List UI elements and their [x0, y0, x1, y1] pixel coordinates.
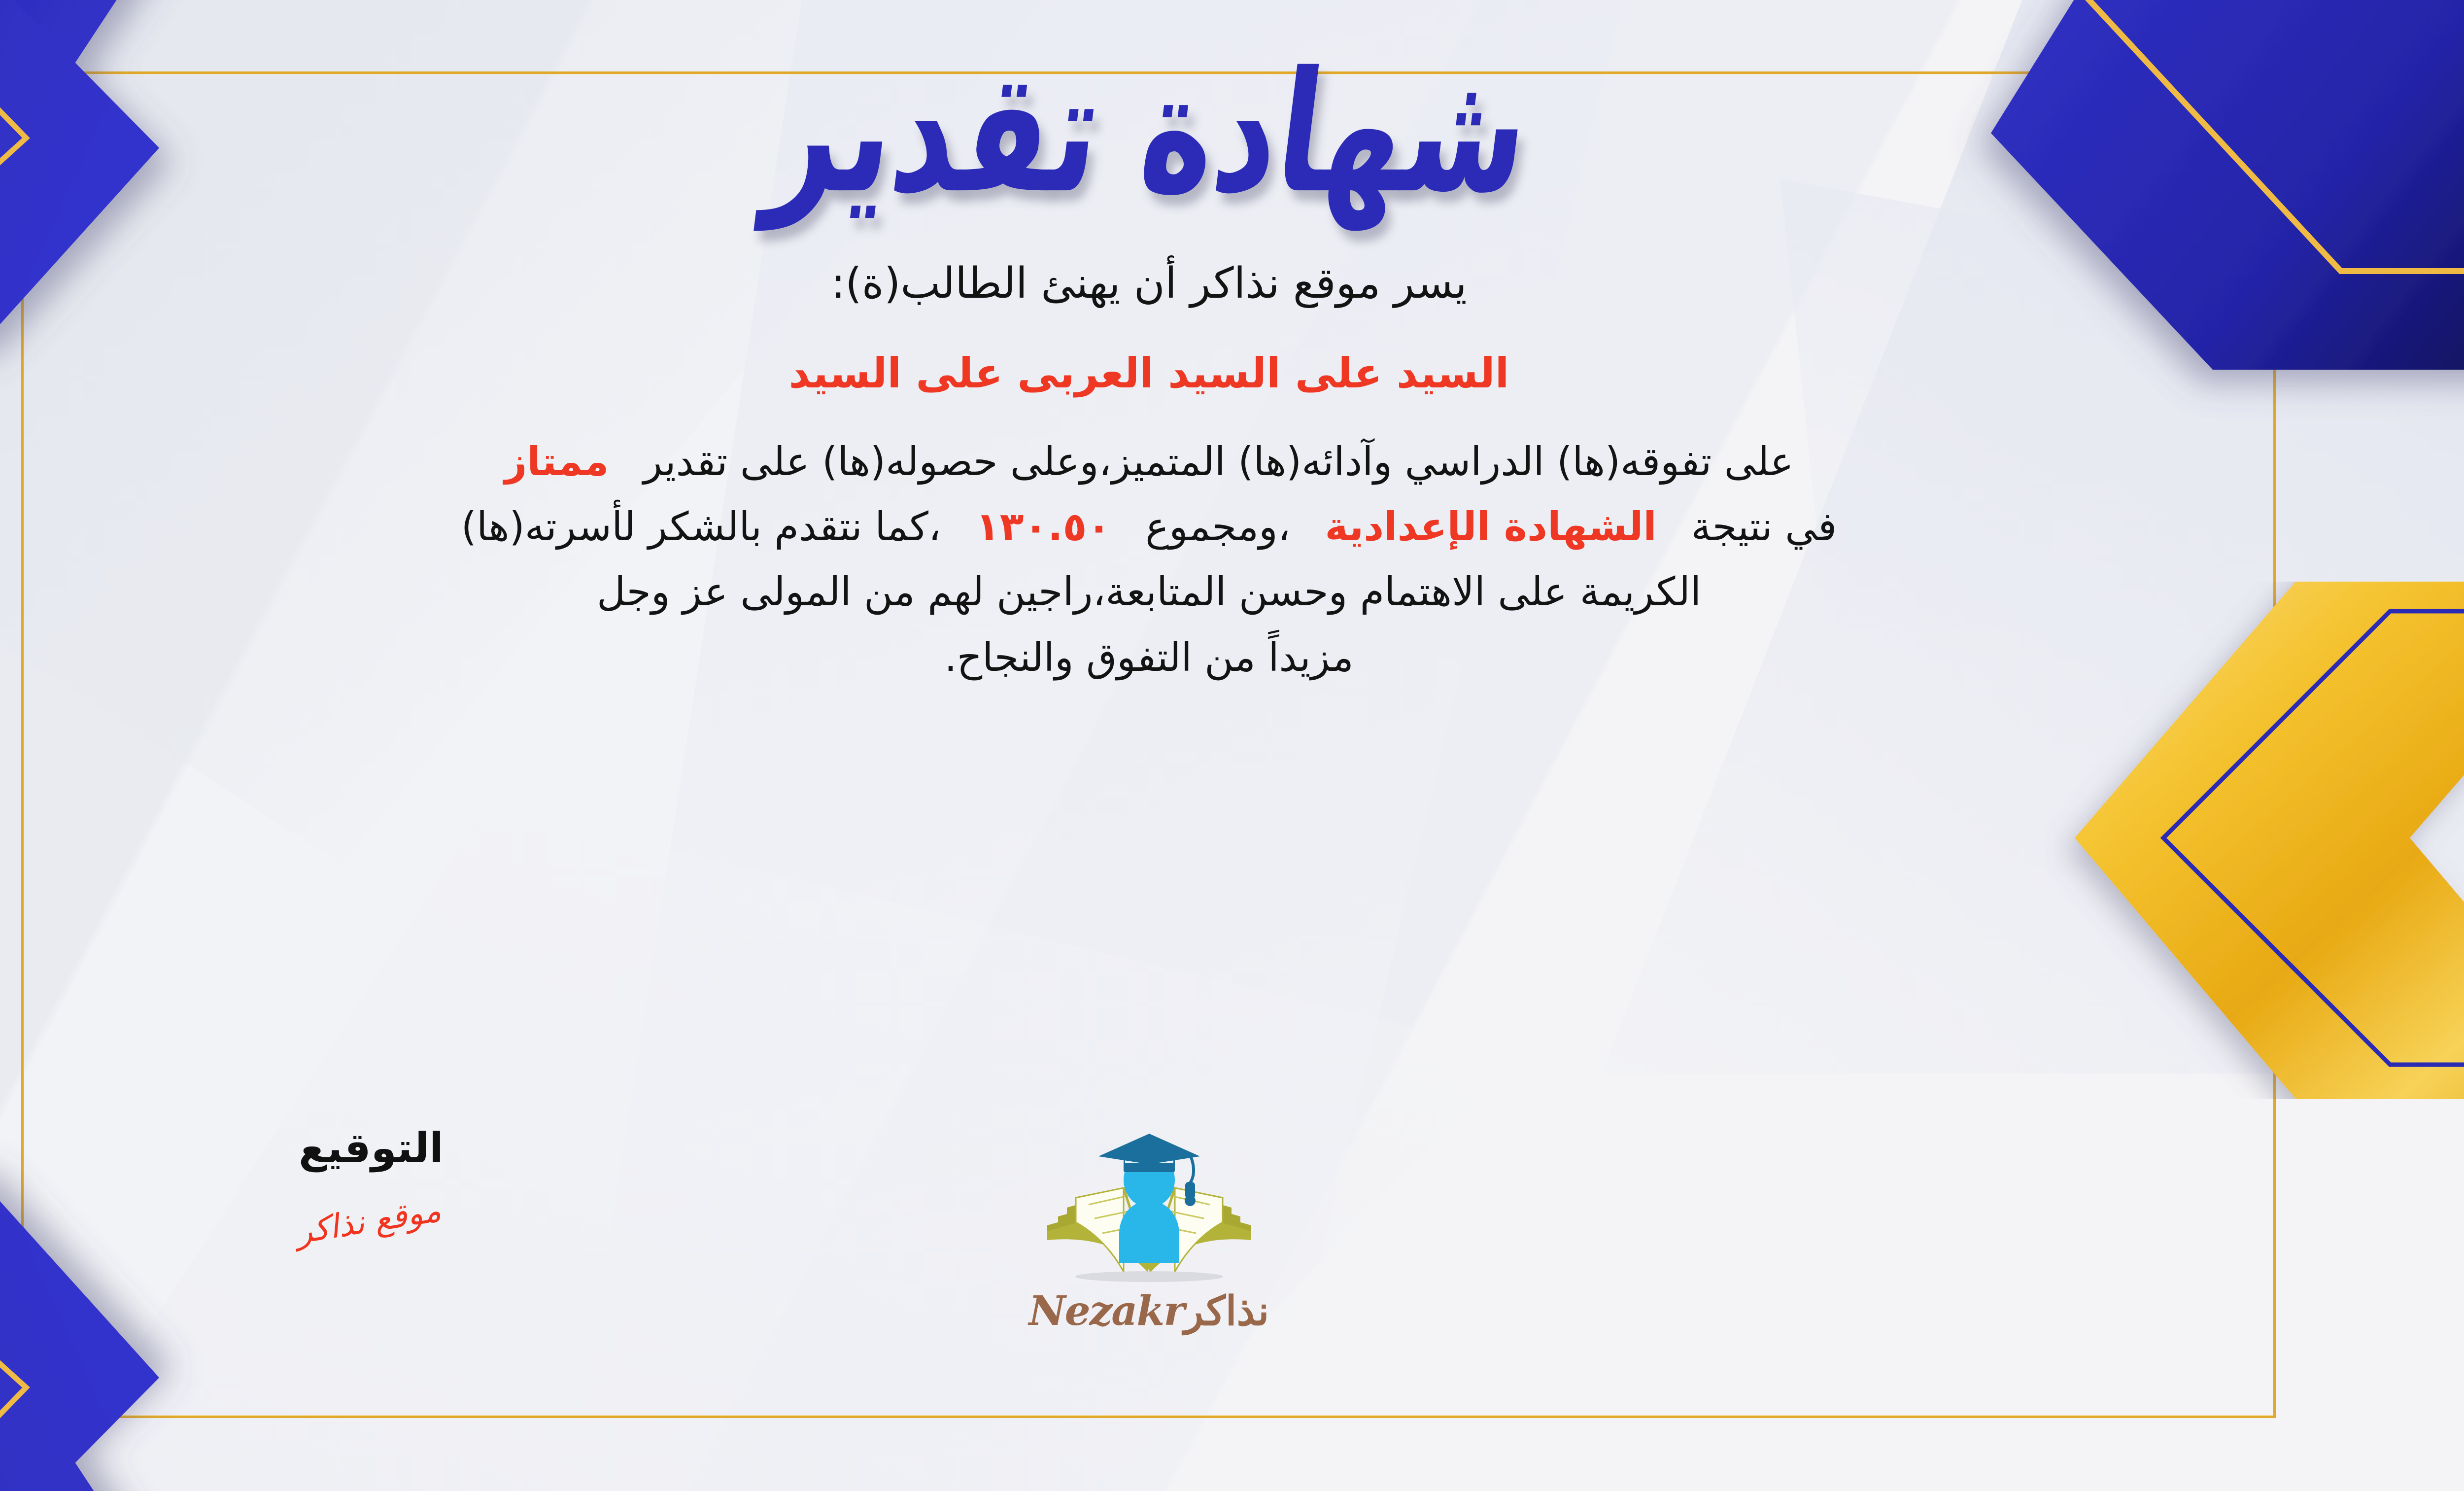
certificate-page: شهادة تقدير يسر موقع نذاكر أن يهنئ الطال…: [0, 0, 2464, 1491]
paragraph-line-1: على تفوقه(ها) الدراسي وآدائه(ها) المتميز…: [66, 433, 2232, 491]
signature-block: التوقيع موقع نذاكر: [243, 1124, 499, 1240]
paragraph-line-2-prefix: في نتيجة: [1691, 504, 1837, 550]
total-score: ١٣٠.٥٠: [976, 504, 1111, 550]
site-logo: نذاكرNezakr: [1011, 1129, 1287, 1335]
intro-line: يسر موقع نذاكر أن يهنئ الطالب(ة):: [66, 252, 2232, 315]
graduate-book-logo-icon: [1043, 1129, 1255, 1291]
grade-value: ممتاز: [504, 439, 609, 485]
student-name: السيد على السيد العربى على السيد: [66, 343, 2232, 404]
page-title: شهادة تقدير: [760, 50, 1538, 216]
paragraph-line-4: مزيداً من التفوق والنجاح.: [66, 628, 2232, 687]
paragraph-line-2-mid: ،ومجموع: [1145, 504, 1290, 550]
certificate-footer: التوقيع موقع نذاكر: [66, 1124, 2232, 1420]
certificate-body: يسر موقع نذاكر أن يهنئ الطالب(ة): السيد …: [66, 252, 2232, 687]
certificate-content: شهادة تقدير يسر موقع نذاكر أن يهنئ الطال…: [0, 0, 2464, 693]
certificate-title-wrap: شهادة تقدير: [66, 49, 2232, 217]
signature-label: التوقيع: [243, 1124, 499, 1172]
signature-script: موقع نذاكر: [297, 1190, 445, 1251]
exam-name: الشهادة الإعدادية: [1325, 504, 1657, 550]
paragraph-line-2: في نتيجةالشهادة الإعدادية،ومجموع١٣٠.٥٠،ك…: [66, 498, 2232, 556]
paragraph-line-2-suffix: ،كما نتقدم بالشكر لأسرته(ها): [461, 504, 941, 550]
logo-latin: Nezakr: [1029, 1287, 1184, 1335]
logo-arabic: نذاكر: [1184, 1287, 1269, 1335]
logo-wordmark: نذاكرNezakr: [1011, 1287, 1287, 1335]
paragraph-line-1-text: على تفوقه(ها) الدراسي وآدائه(ها) المتميز…: [643, 439, 1793, 485]
paragraph-line-3: الكريمة على الاهتمام وحسن المتابعة،راجين…: [66, 563, 2232, 621]
